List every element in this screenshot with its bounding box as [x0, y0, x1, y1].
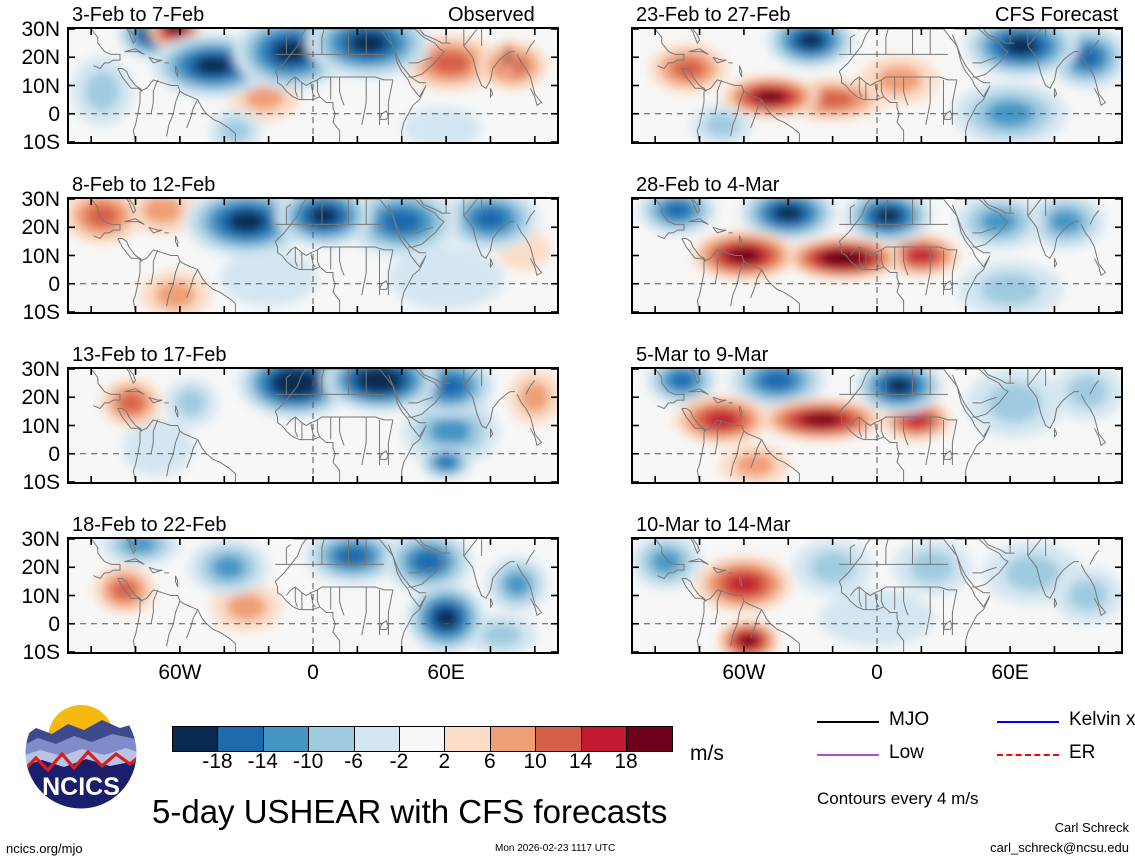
colorbar-tick--10: -10	[293, 751, 323, 773]
legend-label-low: Low	[889, 743, 924, 762]
colorbar-tick-18: 18	[614, 751, 637, 773]
author-name: Carl Schreck	[1055, 820, 1129, 835]
colorbar-cell-9	[582, 727, 627, 751]
x-axis-label-0-col2: 0	[837, 662, 917, 683]
colorbar-cell-10	[627, 727, 672, 751]
x-axis-label-60E-col1: 60E	[406, 662, 486, 683]
y-axis-label-0: 0	[0, 614, 60, 635]
x-axis-label-60E-col2: 60E	[970, 662, 1050, 683]
map-panel-p1	[67, 27, 559, 144]
y-axis-label-10S: 10S	[0, 132, 60, 153]
y-axis-label-10N: 10N	[0, 586, 60, 607]
contours-note: Contours every 4 m/s	[817, 789, 979, 809]
map-panel-p6	[631, 197, 1123, 314]
panel-title-p5: 23-Feb to 27-Feb	[636, 5, 791, 25]
colorbar-cell-4	[355, 727, 400, 751]
panel-title-p1: 3-Feb to 7-Feb	[72, 5, 204, 25]
colorbar-tick--2: -2	[390, 751, 409, 773]
map-panel-p3	[67, 367, 559, 484]
map-panel-p8	[631, 537, 1123, 654]
colorbar-cell-5	[400, 727, 445, 751]
panel-title-p8: 10-Mar to 14-Mar	[636, 515, 791, 535]
colorbar-cell-1	[218, 727, 263, 751]
y-axis-label-30N: 30N	[0, 19, 60, 40]
colorbar-cell-8	[536, 727, 581, 751]
colorbar	[172, 726, 673, 752]
legend-label-kelvin-x2: Kelvin x2	[1069, 710, 1135, 729]
x-axis-label-0-col1: 0	[273, 662, 353, 683]
y-axis-label-30N: 30N	[0, 189, 60, 210]
legend-swatch-low	[817, 754, 879, 756]
y-axis-label-20N: 20N	[0, 47, 60, 68]
map-panel-p2	[67, 197, 559, 314]
colorbar-units-label: m/s	[690, 742, 724, 766]
y-axis-label-0: 0	[0, 444, 60, 465]
y-axis-label-30N: 30N	[0, 359, 60, 380]
y-axis-label-10S: 10S	[0, 642, 60, 663]
column-header-observed: Observed	[448, 5, 535, 25]
legend-swatch-er	[997, 754, 1059, 756]
author-email[interactable]: carl_schreck@ncsu.edu	[990, 840, 1129, 855]
y-axis-label-10N: 10N	[0, 76, 60, 97]
y-axis-label-20N: 20N	[0, 217, 60, 238]
x-axis-label-60W-col2: 60W	[704, 662, 784, 683]
colorbar-cell-3	[309, 727, 354, 751]
colorbar-tick--18: -18	[202, 751, 232, 773]
map-panel-p7	[631, 367, 1123, 484]
y-axis-label-10S: 10S	[0, 302, 60, 323]
y-axis-label-10N: 10N	[0, 246, 60, 267]
colorbar-cell-0	[173, 727, 218, 751]
logo-text: NCICS	[42, 773, 120, 801]
map-panel-p4	[67, 537, 559, 654]
colorbar-cell-2	[264, 727, 309, 751]
colorbar-tick-6: 6	[484, 751, 496, 773]
ncics-logo: NCICS	[22, 694, 140, 812]
y-axis-label-10N: 10N	[0, 416, 60, 437]
y-axis-label-0: 0	[0, 104, 60, 125]
y-axis-label-0: 0	[0, 274, 60, 295]
panel-title-p3: 13-Feb to 17-Feb	[72, 345, 227, 365]
legend-label-mjo: MJO	[889, 710, 929, 729]
colorbar-tick-10: 10	[524, 751, 547, 773]
column-header-cfs-forecast: CFS Forecast	[995, 5, 1118, 25]
colorbar-tick--14: -14	[248, 751, 278, 773]
y-axis-label-20N: 20N	[0, 387, 60, 408]
y-axis-label-20N: 20N	[0, 557, 60, 578]
panel-title-p7: 5-Mar to 9-Mar	[636, 345, 768, 365]
legend-swatch-kelvin-x2	[997, 721, 1059, 723]
y-axis-label-30N: 30N	[0, 529, 60, 550]
colorbar-tick-14: 14	[569, 751, 592, 773]
site-url[interactable]: ncics.org/mjo	[6, 841, 83, 856]
x-axis-label-60W-col1: 60W	[140, 662, 220, 683]
legend-swatch-mjo	[817, 721, 879, 723]
timestamp: Mon 2026-02-23 1117 UTC	[495, 843, 615, 854]
map-panel-p5	[631, 27, 1123, 144]
figure-title: 5-day USHEAR with CFS forecasts	[152, 795, 667, 829]
colorbar-cell-6	[445, 727, 490, 751]
colorbar-tick--6: -6	[344, 751, 363, 773]
legend-label-er: ER	[1069, 743, 1095, 762]
colorbar-tick-labels: -18-14-10-6-226101418	[172, 751, 672, 777]
panel-title-p6: 28-Feb to 4-Mar	[636, 175, 779, 195]
colorbar-tick-2: 2	[439, 751, 451, 773]
panel-title-p2: 8-Feb to 12-Feb	[72, 175, 215, 195]
colorbar-cell-7	[491, 727, 536, 751]
panel-title-p4: 18-Feb to 22-Feb	[72, 515, 227, 535]
y-axis-label-10S: 10S	[0, 472, 60, 493]
